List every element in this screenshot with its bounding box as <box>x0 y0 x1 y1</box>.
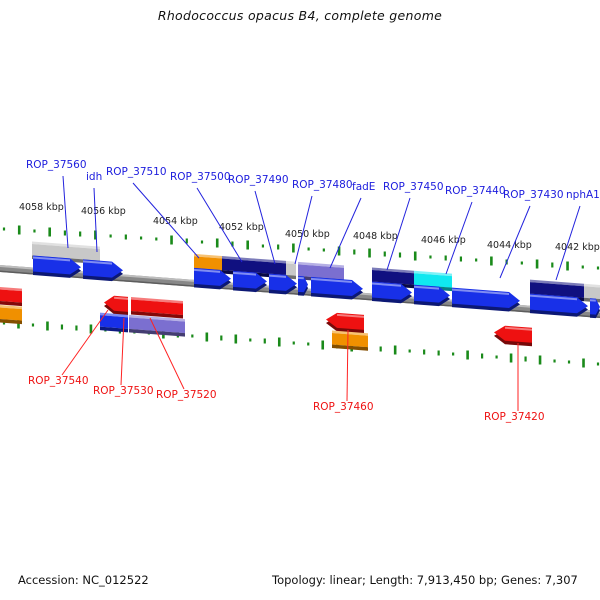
gene-label-forward[interactable]: ROP_37430 <box>503 189 564 201</box>
gene-label-reverse[interactable]: ROP_37520 <box>156 389 217 401</box>
accession-text: Accession: NC_012522 <box>18 573 149 587</box>
tick-mark <box>566 262 569 271</box>
tick-mark <box>353 250 355 255</box>
gene-label-forward[interactable]: fadE <box>352 181 375 193</box>
tick-mark <box>264 339 266 344</box>
gene-feature-bottom[interactable] <box>0 305 22 325</box>
genome-map-canvas[interactable]: 4058 kbp4056 kbp4054 kbp4052 kbp4050 kbp… <box>0 0 600 600</box>
tick-mark <box>582 266 584 269</box>
tick-mark <box>510 354 513 363</box>
tick-mark <box>125 235 127 240</box>
tick-mark <box>32 324 34 327</box>
tick-mark <box>155 238 157 241</box>
gene-label-forward[interactable]: nphA1 <box>566 189 600 201</box>
tick-mark <box>323 249 325 252</box>
feature-face <box>222 259 252 273</box>
tick-mark <box>582 359 585 368</box>
scale-tick-label: 4044 kbp <box>487 240 532 251</box>
tick-mark <box>277 245 279 250</box>
tick-mark <box>79 232 81 237</box>
tick-mark <box>475 259 477 262</box>
tick-mark <box>414 252 417 261</box>
tick-mark <box>3 228 5 231</box>
gene-feature-bottom[interactable] <box>0 287 22 307</box>
tick-mark <box>216 239 219 248</box>
scale-tick-label: 4048 kbp <box>353 231 398 242</box>
tick-mark <box>170 236 173 245</box>
tick-mark <box>246 241 249 250</box>
tick-mark <box>445 256 447 261</box>
tick-mark <box>64 231 66 236</box>
feature-face <box>584 286 600 299</box>
tick-mark <box>307 343 309 346</box>
tick-mark <box>466 351 469 360</box>
tick-mark <box>75 326 77 331</box>
tick-mark <box>321 341 324 350</box>
gene-label-reverse[interactable]: ROP_37540 <box>28 375 89 387</box>
tick-mark <box>278 338 281 347</box>
scale-tick-label: 4054 kbp <box>153 216 198 227</box>
tick-mark <box>495 356 497 359</box>
tick-mark <box>597 363 599 366</box>
scale-tick-label: 4050 kbp <box>285 229 330 240</box>
gene-label-forward[interactable]: ROP_37440 <box>445 185 506 197</box>
tick-mark <box>568 361 570 364</box>
tick-mark <box>46 322 49 331</box>
gene-feature-bottom[interactable] <box>332 330 368 350</box>
gene-label-reverse[interactable]: ROP_37530 <box>93 385 154 397</box>
tick-mark <box>308 248 310 251</box>
leader-line-top <box>94 188 97 252</box>
tick-mark <box>394 346 397 355</box>
tick-mark <box>536 260 539 269</box>
feature-face <box>0 289 22 303</box>
scale-tick-label: 4042 kbp <box>555 242 600 253</box>
tick-mark <box>48 228 51 237</box>
gene-feature-bottom[interactable] <box>131 297 183 318</box>
tick-mark <box>399 253 401 258</box>
tick-mark <box>220 336 222 341</box>
tick-mark <box>460 257 462 262</box>
tick-mark <box>384 252 386 257</box>
tick-mark <box>18 226 21 235</box>
gene-label-forward[interactable]: ROP_37490 <box>228 174 289 186</box>
scale-tick-label: 4056 kbp <box>81 206 126 217</box>
gene-label-reverse[interactable]: ROP_37460 <box>313 401 374 413</box>
tick-mark <box>292 244 295 253</box>
tick-mark <box>249 339 251 342</box>
gene-feature-arrow[interactable] <box>311 277 363 300</box>
tick-mark <box>293 342 295 345</box>
tick-mark <box>521 262 523 265</box>
tick-mark <box>110 235 112 238</box>
tick-mark <box>368 249 371 258</box>
gene-label-forward[interactable]: ROP_37450 <box>383 181 444 193</box>
tick-mark <box>409 350 411 353</box>
tick-mark <box>61 325 63 330</box>
genome-summary-text: Topology: linear; Length: 7,913,450 bp; … <box>272 573 578 587</box>
tick-mark <box>201 241 203 244</box>
gene-label-forward[interactable]: ROP_37510 <box>106 166 167 178</box>
tick-mark <box>551 263 553 268</box>
genome-viewer: Rhodococcus opacus B4, complete genome 4… <box>0 0 600 600</box>
tick-mark <box>206 333 209 342</box>
gene-label-forward[interactable]: idh <box>86 171 102 183</box>
tick-mark <box>235 335 238 344</box>
gene-feature-bottom[interactable] <box>104 296 128 316</box>
feature-face <box>0 307 22 321</box>
tick-mark <box>429 256 431 259</box>
feature-face <box>286 263 296 275</box>
gene-label-forward[interactable]: ROP_37480 <box>292 179 353 191</box>
tick-mark <box>539 356 542 365</box>
tick-mark <box>140 237 142 240</box>
tick-mark <box>191 335 193 338</box>
tick-mark <box>481 354 483 359</box>
gene-feature-arrow[interactable] <box>452 288 520 312</box>
gene-feature-bottom[interactable] <box>494 326 532 347</box>
tick-mark <box>597 267 599 270</box>
gene-label-forward[interactable]: ROP_37560 <box>26 159 87 171</box>
tick-mark <box>262 245 264 248</box>
tick-mark <box>524 357 526 362</box>
scale-tick-label: 4052 kbp <box>219 222 264 233</box>
gene-feature-bottom[interactable] <box>326 313 364 334</box>
gene-feature-arrow[interactable] <box>83 259 123 281</box>
feature-face <box>194 256 222 270</box>
gene-label-reverse[interactable]: ROP_37420 <box>484 411 545 423</box>
tick-mark <box>553 360 555 363</box>
tick-mark <box>438 351 440 356</box>
tick-mark <box>490 257 493 266</box>
tick-mark <box>423 350 425 355</box>
tick-mark <box>380 347 382 352</box>
tick-mark <box>33 230 35 233</box>
tick-mark <box>452 353 454 356</box>
scale-tick-label: 4058 kbp <box>19 202 64 213</box>
leader-line-bottom <box>62 310 108 375</box>
gene-label-forward[interactable]: ROP_37500 <box>170 171 231 183</box>
